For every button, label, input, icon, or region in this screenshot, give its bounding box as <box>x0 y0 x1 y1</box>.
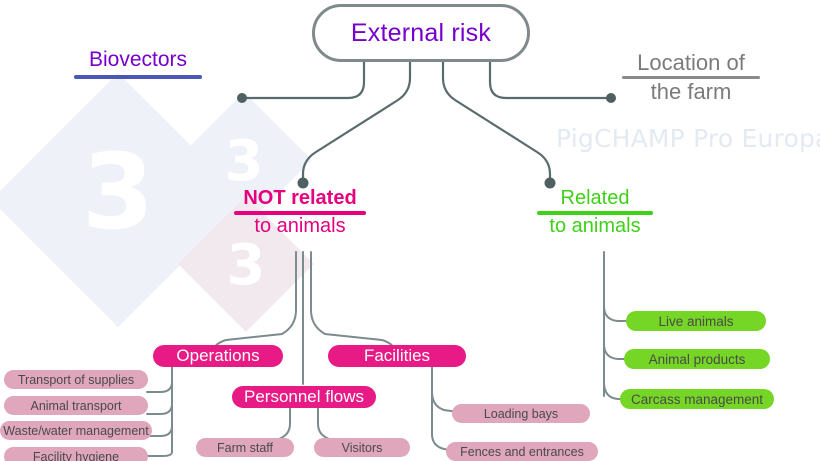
node-not-related-label-top: NOT related <box>234 188 366 210</box>
node-fences-and-entrances-label: Fences and entrances <box>460 445 584 459</box>
node-waste-water-management-label: Waste/water management <box>3 424 148 438</box>
node-animal-products[interactable]: Animal products <box>624 349 770 369</box>
node-facility-hygiene[interactable]: Facility hygiene <box>4 447 148 461</box>
diagram-canvas: 3 3 3 PigCHAMP Pro Europa <box>0 0 820 461</box>
node-related-to-animals[interactable]: Related to animals <box>537 188 653 237</box>
node-biovectors-label: Biovectors <box>74 49 202 72</box>
node-loading-bays-label: Loading bays <box>484 407 558 421</box>
node-visitors-label: Visitors <box>342 441 383 455</box>
svg-text:3: 3 <box>225 129 264 194</box>
node-fences-and-entrances[interactable]: Fences and entrances <box>446 442 598 461</box>
node-external-risk[interactable]: External risk <box>312 4 530 62</box>
node-farm-staff-label: Farm staff <box>217 441 273 455</box>
node-location-label-bottom: the farm <box>622 80 760 104</box>
node-carcass-management[interactable]: Carcass management <box>620 389 774 409</box>
node-farm-staff[interactable]: Farm staff <box>196 438 294 457</box>
node-animal-transport-label: Animal transport <box>30 399 121 413</box>
node-biovectors[interactable]: Biovectors <box>74 49 202 80</box>
node-biovectors-underline <box>74 75 202 79</box>
node-transport-of-supplies-label: Transport of supplies <box>18 373 134 387</box>
node-not-related-underline <box>234 211 366 215</box>
node-not-related-label-bottom: to animals <box>234 216 366 238</box>
node-facilities-label: Facilities <box>364 346 430 366</box>
node-waste-water-management[interactable]: Waste/water management <box>0 421 152 440</box>
node-visitors[interactable]: Visitors <box>314 438 410 457</box>
node-facilities[interactable]: Facilities <box>328 345 466 367</box>
svg-text:3: 3 <box>82 131 154 253</box>
node-live-animals-label: Live animals <box>658 314 733 329</box>
node-not-related-to-animals[interactable]: NOT related to animals <box>234 188 366 237</box>
node-loading-bays[interactable]: Loading bays <box>452 404 590 423</box>
node-location-of-the-farm[interactable]: Location of the farm <box>622 51 760 104</box>
node-personnel-flows-label: Personnel flows <box>244 387 364 407</box>
node-operations[interactable]: Operations <box>153 345 283 367</box>
node-animal-products-label: Animal products <box>649 352 746 367</box>
node-personnel-flows[interactable]: Personnel flows <box>232 386 376 408</box>
node-operations-label: Operations <box>176 346 259 366</box>
node-related-label-bottom: to animals <box>537 216 653 238</box>
node-facility-hygiene-label: Facility hygiene <box>33 450 119 461</box>
node-transport-of-supplies[interactable]: Transport of supplies <box>4 370 148 389</box>
svg-text:3: 3 <box>227 233 266 298</box>
node-related-label-top: Related <box>537 188 653 210</box>
node-location-label-top: Location of <box>622 51 760 75</box>
node-external-risk-label: External risk <box>351 19 491 48</box>
watermark-text: PigCHAMP Pro Europa <box>556 124 820 153</box>
node-live-animals[interactable]: Live animals <box>626 311 766 331</box>
node-carcass-management-label: Carcass management <box>631 392 763 407</box>
node-related-underline <box>537 211 653 215</box>
node-animal-transport[interactable]: Animal transport <box>4 396 148 415</box>
